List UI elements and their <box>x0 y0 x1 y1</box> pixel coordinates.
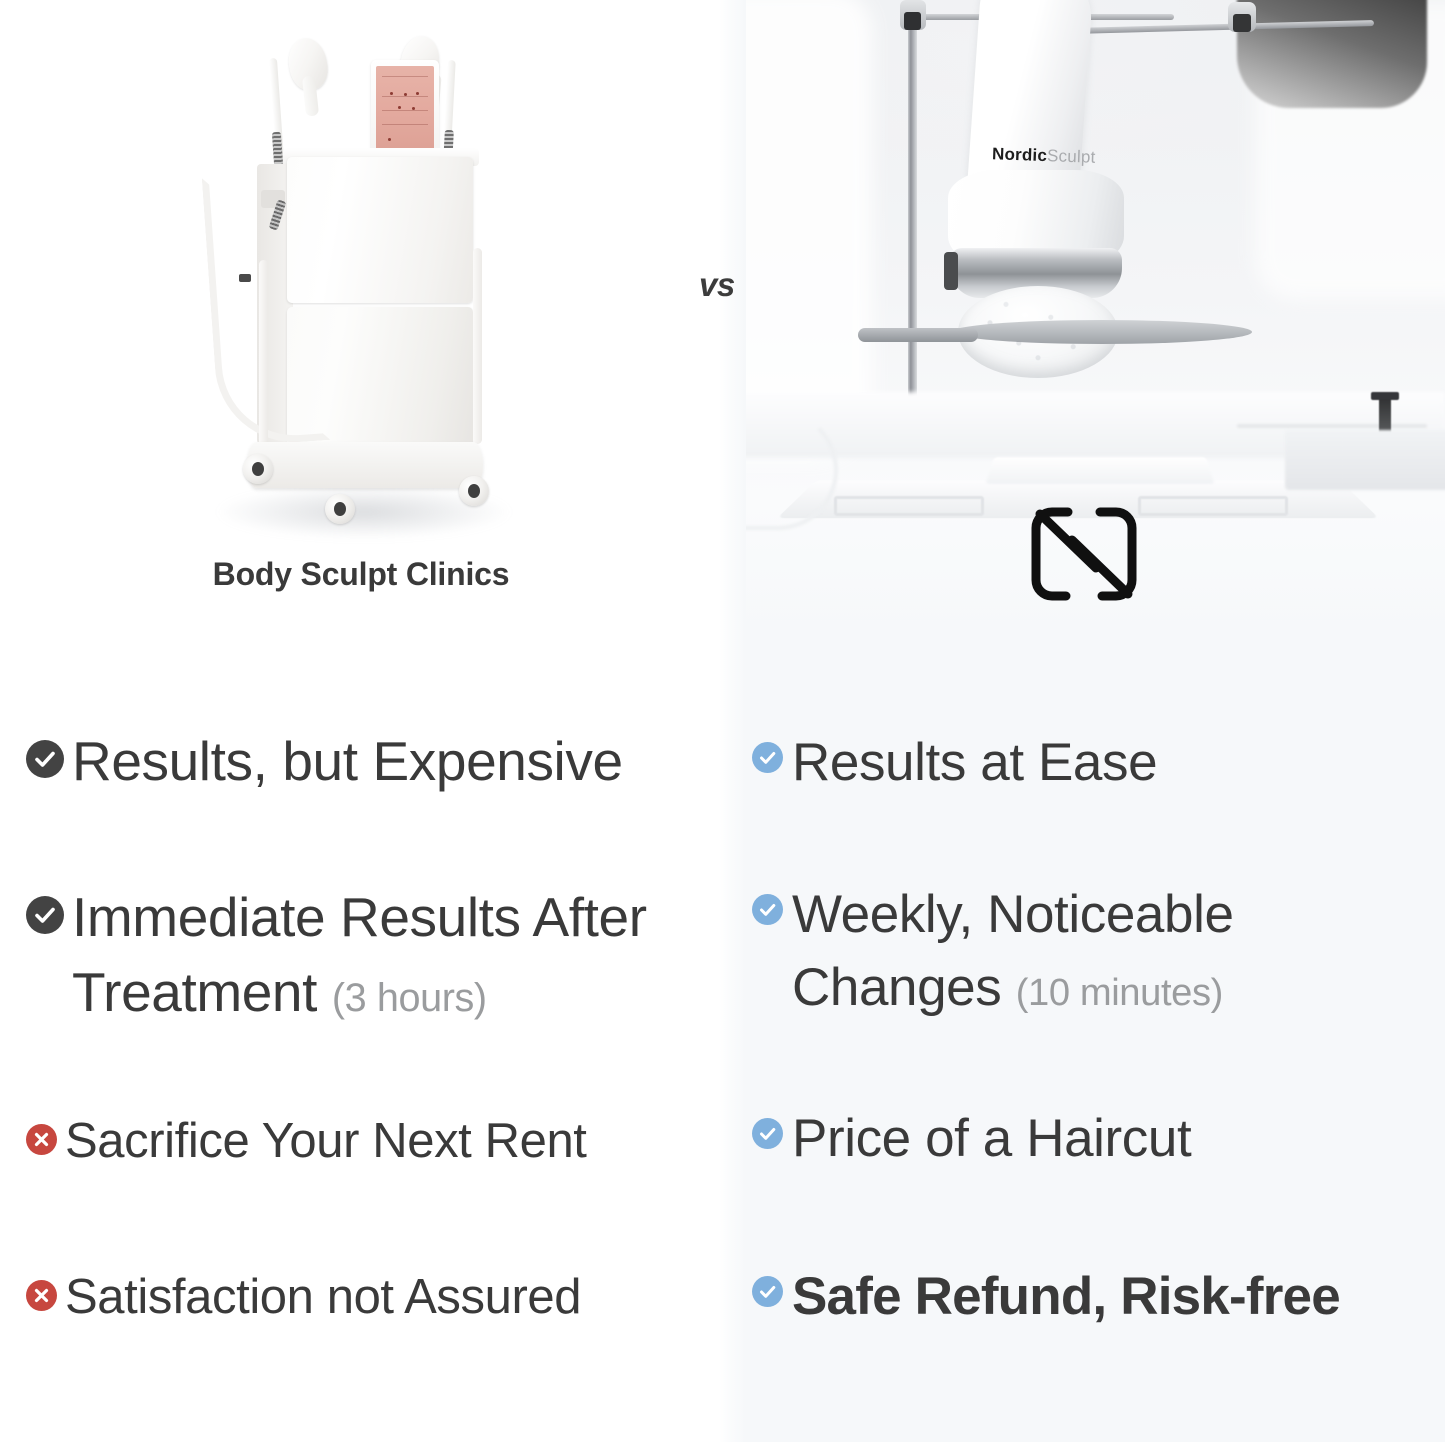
list-item: Results, but Expensive <box>26 724 706 805</box>
list-item-note: (10 minutes) <box>1016 971 1223 1014</box>
machine-base <box>247 442 483 488</box>
vs-label: vs <box>699 266 735 304</box>
list-item: Immediate Results After Treatment (3 hou… <box>26 880 706 1036</box>
background-box <box>1285 430 1445 490</box>
check-circle-blue-icon <box>752 742 783 773</box>
machine-leg-right <box>473 248 482 444</box>
check-circle-blue-icon <box>752 894 783 925</box>
background-dark-fixture <box>1237 0 1427 108</box>
list-item: Satisfaction not Assured <box>26 1260 706 1339</box>
cable-clip <box>239 274 251 282</box>
comparison-infographic: Body Sculpt Clinics NordicSculpt <box>0 0 1445 1442</box>
device-brand-label: NordicSculpt <box>992 144 1096 168</box>
list-item-label: Immediate Results After Treatment (3 hou… <box>72 880 706 1036</box>
floor-tray-cutout <box>834 496 984 516</box>
stand-shelf-arm <box>858 328 978 342</box>
left-brand-name: Body Sculpt Clinics <box>0 556 722 593</box>
list-item-label: Weekly, Noticeable Changes (10 minutes) <box>792 878 1431 1029</box>
list-item: Weekly, Noticeable Changes (10 minutes) <box>752 878 1431 1029</box>
right-feature-list: Results at Ease Weekly, Noticeable Chang… <box>722 660 1445 1442</box>
device-brand-light: Sculpt <box>1047 146 1096 167</box>
x-circle-red-icon <box>26 1280 57 1311</box>
body-sculpt-machine-illustration <box>191 24 531 544</box>
device-brand-bold: Nordic <box>992 144 1048 165</box>
floor-tray-slab <box>985 457 1214 484</box>
nordicsculpt-logo-icon <box>1022 492 1146 616</box>
background-pin <box>1379 396 1391 434</box>
floor-tray-cutout <box>1138 496 1288 516</box>
check-circle-dark-icon <box>26 740 64 778</box>
comparison-lists: Results, but Expensive Immediate Results… <box>0 660 1445 1442</box>
machine-leg-left <box>259 260 268 456</box>
stand-knob-core <box>904 12 921 30</box>
list-item-label: Satisfaction not Assured <box>65 1260 581 1339</box>
left-product-image <box>0 0 722 560</box>
check-circle-blue-icon <box>752 1118 783 1149</box>
stand-shelf-plate <box>952 320 1252 344</box>
list-item-note: (3 hours) <box>332 976 487 1020</box>
list-item-label: Results, but Expensive <box>72 724 623 805</box>
list-item-label: Sacrifice Your Next Rent <box>65 1104 587 1183</box>
left-feature-list: Results, but Expensive Immediate Results… <box>0 660 722 1442</box>
stand-vertical-rod <box>908 0 917 410</box>
right-product-image: NordicSculpt <box>722 0 1445 640</box>
list-item-label: Results at Ease <box>792 726 1157 804</box>
machine-caster <box>325 494 355 524</box>
list-item: Results at Ease <box>752 726 1431 804</box>
background-pin-cap <box>1371 392 1399 400</box>
list-item: Price of a Haircut <box>752 1102 1431 1180</box>
machine-caster <box>459 476 489 506</box>
background-blur-left <box>722 0 872 460</box>
background-cord-secondary <box>1237 424 1427 428</box>
stand-clamp-right-core <box>1233 14 1251 32</box>
check-circle-dark-icon <box>26 896 64 934</box>
x-circle-red-icon <box>26 1124 57 1155</box>
list-item: Sacrifice Your Next Rent <box>26 1104 706 1183</box>
machine-caster <box>243 454 273 484</box>
list-item-label: Price of a Haircut <box>792 1102 1191 1180</box>
list-item-label: Safe Refund, Risk-free <box>792 1260 1340 1338</box>
check-circle-blue-icon <box>752 1276 783 1307</box>
machine-screen <box>376 66 434 154</box>
list-item: Safe Refund, Risk-free <box>752 1260 1431 1338</box>
device-power-switch-icon <box>944 252 958 290</box>
